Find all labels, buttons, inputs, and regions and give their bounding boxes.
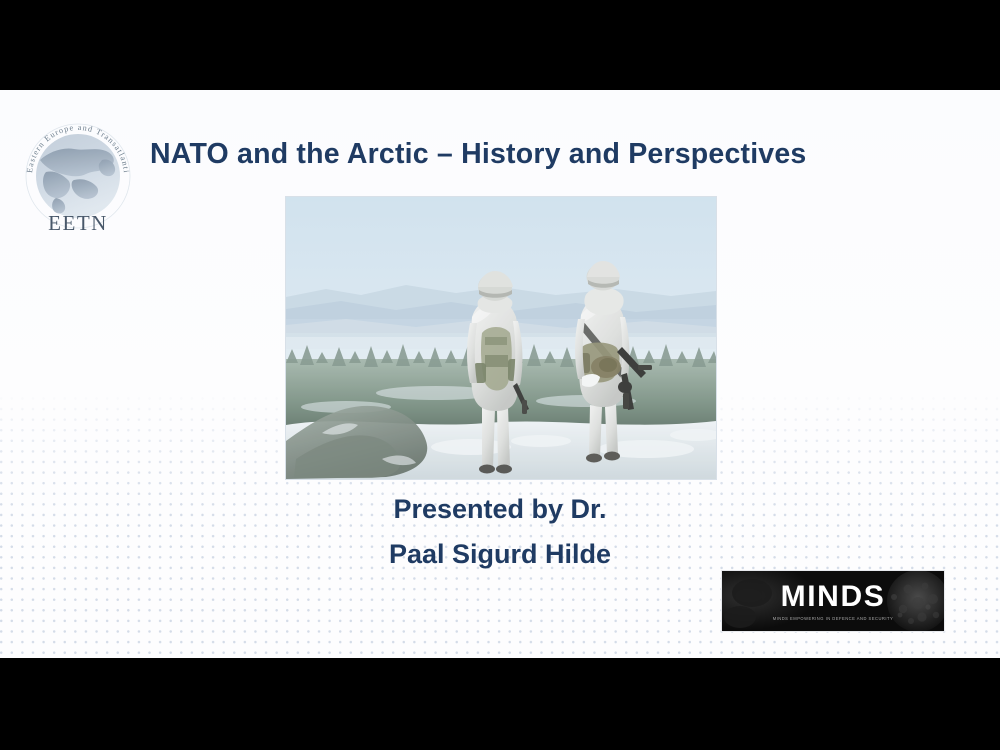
presentation-slide: Eastern Europe and Transatlantic Network… [0,90,1000,658]
letterbox-bar-bottom [0,658,1000,750]
letterbox-bar-top [0,0,1000,90]
page-title: NATO and the Arctic – History and Perspe… [150,138,950,171]
minds-sponsor-logo: MINDS MINDS EMPOWERING IN DEFENCE AND SE… [721,570,945,632]
arctic-soldiers-photo [286,197,716,479]
svg-text:EETN: EETN [48,211,108,235]
minds-wordmark: MINDS [722,582,944,612]
video-frame: Eastern Europe and Transatlantic Network… [0,0,1000,750]
eetn-logo: Eastern Europe and Transatlantic Network… [16,102,140,242]
presenter-credit: Presented by Dr. Paal Sigurd Hilde [0,487,1000,577]
minds-tagline: MINDS EMPOWERING IN DEFENCE AND SECURITY [722,617,944,621]
presenter-line-1: Presented by Dr. [0,487,1000,532]
